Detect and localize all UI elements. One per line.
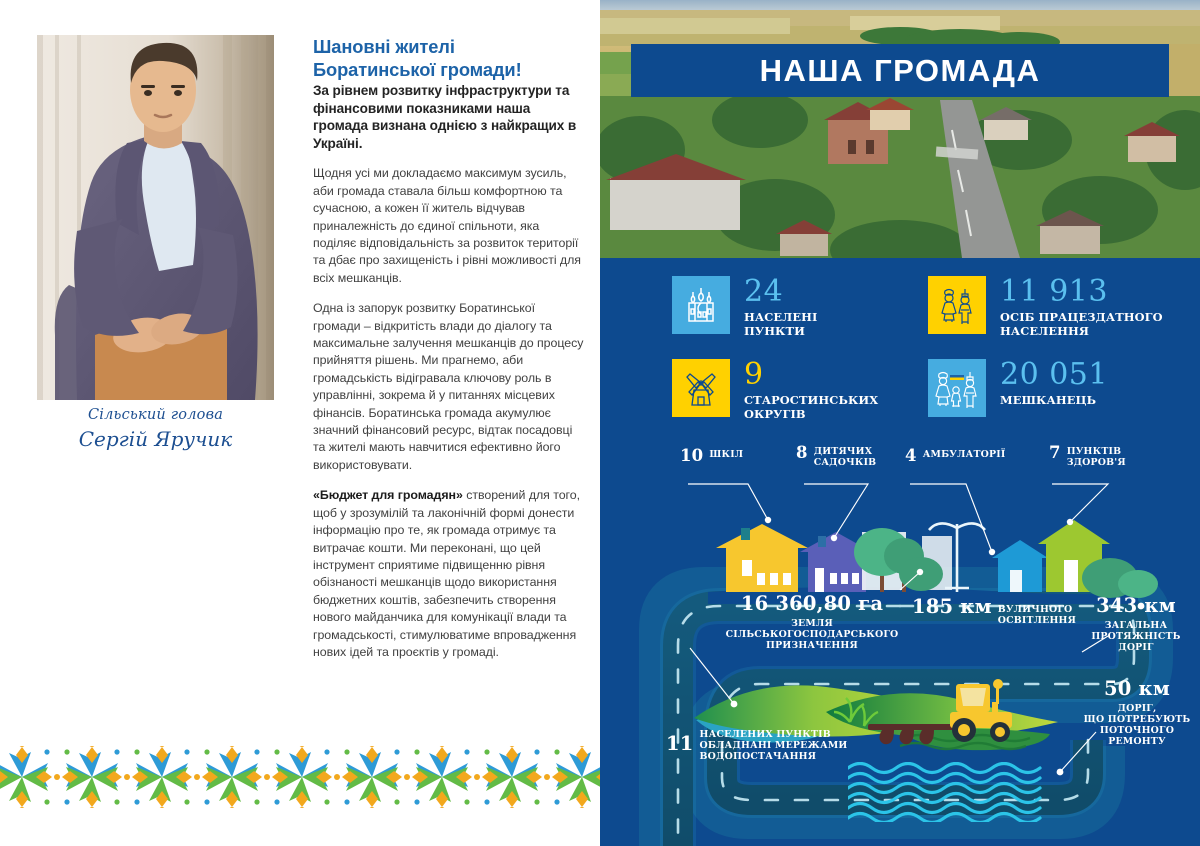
label-total-roads-l2: ПРОТЯЖНІСТЬ [1080, 631, 1192, 642]
label-roads-repair-l3: ПОТОЧНОГО РЕМОНТУ [1080, 725, 1194, 747]
stat-starosta-districts-label-l1: СТАРОСТИНСЬКИХ [744, 394, 878, 408]
stat-residents-label: МЕШКАНЕЦЬ [1000, 394, 1108, 408]
stat-working-population-value: 11 913 [1000, 277, 1163, 307]
letter-title: Шановні жителі Боратинської громади! [313, 36, 585, 81]
label-schools-num: 10 [680, 447, 703, 465]
label-kindergartens-num: 8 [796, 444, 808, 462]
couple-icon [928, 276, 986, 334]
stat-residents-value: 20 051 [1000, 360, 1108, 390]
stat-starosta-districts-body: 9 СТАРОСТИНСЬКИХ ОКРУГІВ [744, 359, 878, 421]
label-health-points-num: 7 [1049, 444, 1061, 462]
letter-paragraph-1: Щодня усі ми докладаємо максимум зусиль,… [313, 165, 585, 287]
label-kindergartens-l2: САДОЧКІВ [814, 457, 877, 468]
label-farmland-l2: СІЛЬСЬКОГОСПОДАРСЬКОГО [712, 629, 912, 640]
stat-starosta-districts: 9 СТАРОСТИНСЬКИХ ОКРУГІВ [672, 359, 878, 421]
church-icon [672, 276, 730, 334]
label-roads-repair: 50 км ДОРІГ, ЩО ПОТРЕБУЮТЬ ПОТОЧНОГО РЕМ… [1080, 680, 1194, 747]
church-icon-glyph [680, 284, 722, 326]
label-street-lighting-l2: ОСВІТЛЕННЯ [998, 615, 1076, 626]
stat-residents-body: 20 051 МЕШКАНЕЦЬ [1000, 359, 1108, 408]
brochure-spread: Сільський голова Сергій Яручик Шановні ж… [0, 0, 1200, 846]
stat-settlements: 24 НАСЕЛЕНІ ПУНКТИ [672, 276, 817, 338]
label-street-lighting-l1: ВУЛИЧНОГО [998, 604, 1076, 615]
embroidery-border-pattern [0, 746, 600, 808]
label-schools-text: ШКІЛ [709, 447, 743, 460]
stat-settlements-value: 24 [744, 277, 817, 307]
label-kindergartens: 8 ДИТЯЧИХ САДОЧКІВ [796, 444, 876, 468]
stat-starosta-districts-label: СТАРОСТИНСЬКИХ ОКРУГІВ [744, 394, 878, 421]
label-roads-repair-l2: ЩО ПОТРЕБУЮТЬ [1080, 714, 1194, 725]
stat-working-population-label: ОСІБ ПРАЦЕЗДАТНОГО НАСЕЛЕННЯ [1000, 311, 1163, 338]
label-street-lighting: 185 км ВУЛИЧНОГО ОСВІТЛЕННЯ [912, 598, 1076, 626]
windmill-icon-glyph [680, 367, 722, 409]
label-farmland-l3: ПРИЗНАЧЕННЯ [712, 640, 912, 651]
label-water-supply-l1: НАСЕЛЕНИХ ПУНКТІВ [700, 729, 848, 740]
stat-settlements-label-l2: ПУНКТИ [744, 325, 817, 339]
stat-settlements-body: 24 НАСЕЛЕНІ ПУНКТИ [744, 276, 817, 338]
letter-paragraph-3: «Бюджет для громадян» створений для того… [313, 487, 585, 661]
village-head-portrait [37, 35, 274, 400]
label-roads-repair-num: 50 км [1080, 680, 1194, 698]
label-health-points-l1: ПУНКТІВ [1067, 446, 1126, 457]
portrait-caption: Сільський голова Сергій Яручик [37, 406, 274, 452]
stat-starosta-districts-value: 9 [744, 360, 878, 390]
aerial-photo-illustration [600, 0, 1200, 258]
family-icon [928, 359, 986, 417]
letter-title-line1: Шановні жителі [313, 36, 585, 59]
label-roads-repair-text: ДОРІГ, ЩО ПОТРЕБУЮТЬ ПОТОЧНОГО РЕМОНТУ [1080, 703, 1194, 747]
label-total-roads-l1: ЗАГАЛЬНА [1080, 620, 1192, 631]
road-infographic: 10 ШКІЛ 8 ДИТЯЧИХ САДОЧКІВ 4 АМБУЛАТОРІЇ… [600, 440, 1200, 846]
label-outpatient-num: 4 [905, 447, 917, 465]
windmill-icon [672, 359, 730, 417]
letter-title-line2: Боратинської громади! [313, 59, 585, 82]
label-health-points-text: ПУНКТІВ ЗДОРОВ'Я [1067, 444, 1126, 468]
family-icon-glyph [934, 367, 980, 409]
letter-text-column: Шановні жителі Боратинської громади! За … [313, 36, 585, 674]
portrait-illustration [37, 35, 274, 400]
label-water-supply-l2: ОБЛАДНАНІ МЕРЕЖАМИ [700, 740, 848, 751]
letter-paragraph-2: Одна із запорук розвитку Боратинської гр… [313, 300, 585, 474]
label-outpatient: 4 АМБУЛАТОРІЇ [905, 447, 1005, 465]
right-page: НАША ГРОМАДА [600, 0, 1200, 846]
stat-working-population-body: 11 913 ОСІБ ПРАЦЕЗДАТНОГО НАСЕЛЕННЯ [1000, 276, 1163, 338]
label-street-lighting-text: ВУЛИЧНОГО ОСВІТЛЕННЯ [998, 598, 1076, 626]
caption-role: Сільський голова [37, 406, 274, 425]
label-farmland-l1: ЗЕМЛЯ [712, 618, 912, 629]
couple-icon-glyph [936, 284, 978, 326]
letter-subtitle: За рівнем розвитку інфраструктури та фін… [313, 82, 585, 152]
label-total-roads-text: ЗАГАЛЬНА ПРОТЯЖНІСТЬ ДОРІГ [1080, 620, 1192, 653]
community-stats: 24 НАСЕЛЕНІ ПУНКТИ [600, 258, 1200, 440]
stat-working-population: 11 913 ОСІБ ПРАЦЕЗДАТНОГО НАСЕЛЕННЯ [928, 276, 1163, 338]
aerial-village-photo [600, 0, 1200, 258]
label-kindergartens-l1: ДИТЯЧИХ [814, 446, 877, 457]
stat-working-population-label-l2: НАСЕЛЕННЯ [1000, 325, 1163, 339]
letter-paragraph-3-rest: створений для того, щоб у зрозумілій та … [313, 488, 580, 659]
label-street-lighting-num: 185 км [912, 598, 992, 616]
label-farmland-num: 16 360,80 га [712, 595, 912, 613]
label-roads-repair-l1: ДОРІГ, [1080, 703, 1194, 714]
label-water-supply-num: 11 [666, 727, 694, 753]
label-outpatient-text: АМБУЛАТОРІЇ [923, 447, 1006, 460]
label-total-roads-num: 343 км [1080, 597, 1192, 615]
stat-settlements-label-l1: НАСЕЛЕНІ [744, 311, 817, 325]
left-page: Сільський голова Сергій Яручик Шановні ж… [0, 0, 600, 846]
caption-name: Сергій Яручик [37, 426, 274, 452]
banner-title: НАША ГРОМАДА [760, 53, 1041, 89]
label-water-supply-l3: ВОДОПОСТАЧАННЯ [700, 751, 848, 762]
label-total-roads: 343 км ЗАГАЛЬНА ПРОТЯЖНІСТЬ ДОРІГ [1080, 597, 1192, 653]
label-health-points-l2: ЗДОРОВ'Я [1067, 457, 1126, 468]
label-farmland: 16 360,80 га ЗЕМЛЯ СІЛЬСЬКОГОСПОДАРСЬКОГ… [712, 595, 912, 651]
budget-term: «Бюджет для громадян» [313, 488, 463, 502]
stat-starosta-districts-label-l2: ОКРУГІВ [744, 408, 878, 422]
label-farmland-text: ЗЕМЛЯ СІЛЬСЬКОГОСПОДАРСЬКОГО ПРИЗНАЧЕННЯ [712, 618, 912, 651]
label-kindergartens-text: ДИТЯЧИХ САДОЧКІВ [814, 444, 877, 468]
label-health-points: 7 ПУНКТІВ ЗДОРОВ'Я [1049, 444, 1126, 468]
label-total-roads-l3: ДОРІГ [1080, 642, 1192, 653]
stat-residents-label-l1: МЕШКАНЕЦЬ [1000, 394, 1108, 408]
stat-residents: 20 051 МЕШКАНЕЦЬ [928, 359, 1108, 417]
label-water-supply-text: НАСЕЛЕНИХ ПУНКТІВ ОБЛАДНАНІ МЕРЕЖАМИ ВОД… [700, 727, 848, 762]
stat-settlements-label: НАСЕЛЕНІ ПУНКТИ [744, 311, 817, 338]
label-schools: 10 ШКІЛ [680, 447, 743, 465]
label-water-supply: 11 НАСЕЛЕНИХ ПУНКТІВ ОБЛАДНАНІ МЕРЕЖАМИ … [666, 727, 847, 762]
stat-working-population-label-l1: ОСІБ ПРАЦЕЗДАТНОГО [1000, 311, 1163, 325]
section-banner: НАША ГРОМАДА [631, 44, 1169, 97]
